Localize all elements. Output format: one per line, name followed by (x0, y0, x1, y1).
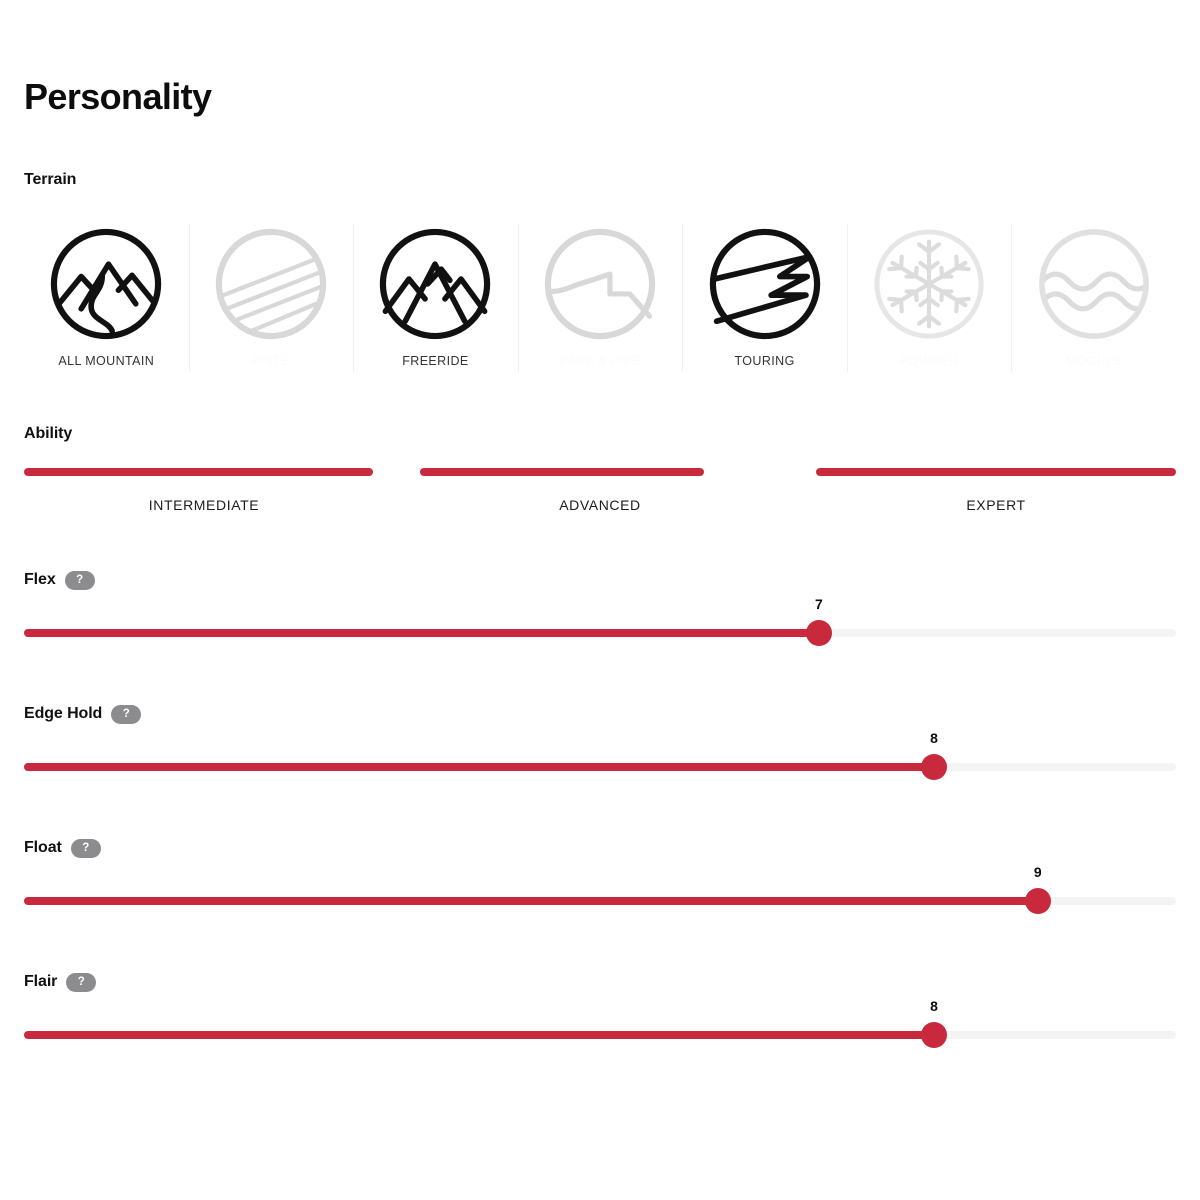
rating-label: Flex (24, 570, 56, 590)
terrain-label: MOGULS (1065, 354, 1122, 369)
rating-edge-hold: Edge Hold ? 8 (24, 704, 1176, 782)
terrain-label: TOURING (734, 354, 794, 369)
terrain-item-powder[interactable]: POWDER (847, 218, 1012, 378)
rating-header: Float ? (24, 838, 1176, 858)
terrain-item-park-pipe[interactable]: PARK & PIPE (518, 218, 683, 378)
page-title: Personality (24, 0, 1176, 118)
slider-value: 7 (815, 596, 823, 612)
rating-label: Float (24, 838, 62, 858)
park-pipe-icon (538, 222, 662, 346)
rating-flair: Flair ? 8 (24, 972, 1176, 1050)
ability-item-intermediate[interactable]: INTERMEDIATE (24, 468, 420, 514)
terrain-item-piste[interactable]: PISTE (189, 218, 354, 378)
terrain-label: ALL MOUNTAIN (58, 354, 154, 369)
terrain-heading: Terrain (24, 170, 1176, 190)
ability-label: EXPERT (816, 496, 1176, 514)
ability-item-advanced[interactable]: ADVANCED (420, 468, 816, 514)
terrain-label: PISTE (252, 354, 290, 369)
terrain-label: FREERIDE (402, 354, 468, 369)
rating-slider[interactable]: 8 (24, 752, 1176, 782)
terrain-icon-row: ALL MOUNTAIN PISTE (24, 218, 1176, 378)
powder-icon (867, 222, 991, 346)
help-icon[interactable]: ? (65, 571, 95, 590)
ability-section: Ability INTERMEDIATE ADVANCED EXPERT (24, 424, 1176, 514)
slider-fill (24, 897, 1038, 905)
rating-slider[interactable]: 8 (24, 1020, 1176, 1050)
personality-page: Personality Terrain ALL MOUNTAIN (0, 0, 1200, 1200)
slider-value: 8 (930, 730, 938, 746)
ability-heading: Ability (24, 424, 1176, 444)
terrain-item-all-mountain[interactable]: ALL MOUNTAIN (24, 218, 189, 378)
ability-bar (420, 468, 704, 476)
slider-thumb[interactable] (921, 1022, 947, 1048)
ability-item-expert[interactable]: EXPERT (816, 468, 1176, 514)
ability-label: ADVANCED (420, 496, 780, 514)
slider-thumb[interactable] (1025, 888, 1051, 914)
slider-thumb[interactable] (806, 620, 832, 646)
rating-header: Edge Hold ? (24, 704, 1176, 724)
freeride-icon (373, 222, 497, 346)
moguls-icon (1032, 222, 1156, 346)
ability-bar (24, 468, 373, 476)
all-mountain-icon (44, 222, 168, 346)
slider-value: 8 (930, 998, 938, 1014)
help-icon[interactable]: ? (111, 705, 141, 724)
rating-header: Flair ? (24, 972, 1176, 992)
slider-fill (24, 1031, 934, 1039)
terrain-label: POWDER (900, 354, 959, 369)
rating-label: Edge Hold (24, 704, 102, 724)
rating-flex: Flex ? 7 (24, 570, 1176, 648)
slider-fill (24, 763, 934, 771)
terrain-item-touring[interactable]: TOURING (682, 218, 847, 378)
piste-icon (209, 222, 333, 346)
slider-thumb[interactable] (921, 754, 947, 780)
slider-value: 9 (1034, 864, 1042, 880)
help-icon[interactable]: ? (66, 973, 96, 992)
ability-bar (816, 468, 1176, 476)
help-icon[interactable]: ? (71, 839, 101, 858)
rating-float: Float ? 9 (24, 838, 1176, 916)
rating-slider[interactable]: 9 (24, 886, 1176, 916)
rating-header: Flex ? (24, 570, 1176, 590)
terrain-item-moguls[interactable]: MOGULS (1011, 218, 1176, 378)
terrain-section: Terrain ALL MOUNTAIN (24, 170, 1176, 378)
touring-icon (703, 222, 827, 346)
ability-row: INTERMEDIATE ADVANCED EXPERT (24, 468, 1176, 514)
rating-slider[interactable]: 7 (24, 618, 1176, 648)
ability-label: INTERMEDIATE (24, 496, 384, 514)
terrain-item-freeride[interactable]: FREERIDE (353, 218, 518, 378)
rating-label: Flair (24, 972, 57, 992)
terrain-label: PARK & PIPE (559, 354, 640, 369)
slider-fill (24, 629, 819, 637)
